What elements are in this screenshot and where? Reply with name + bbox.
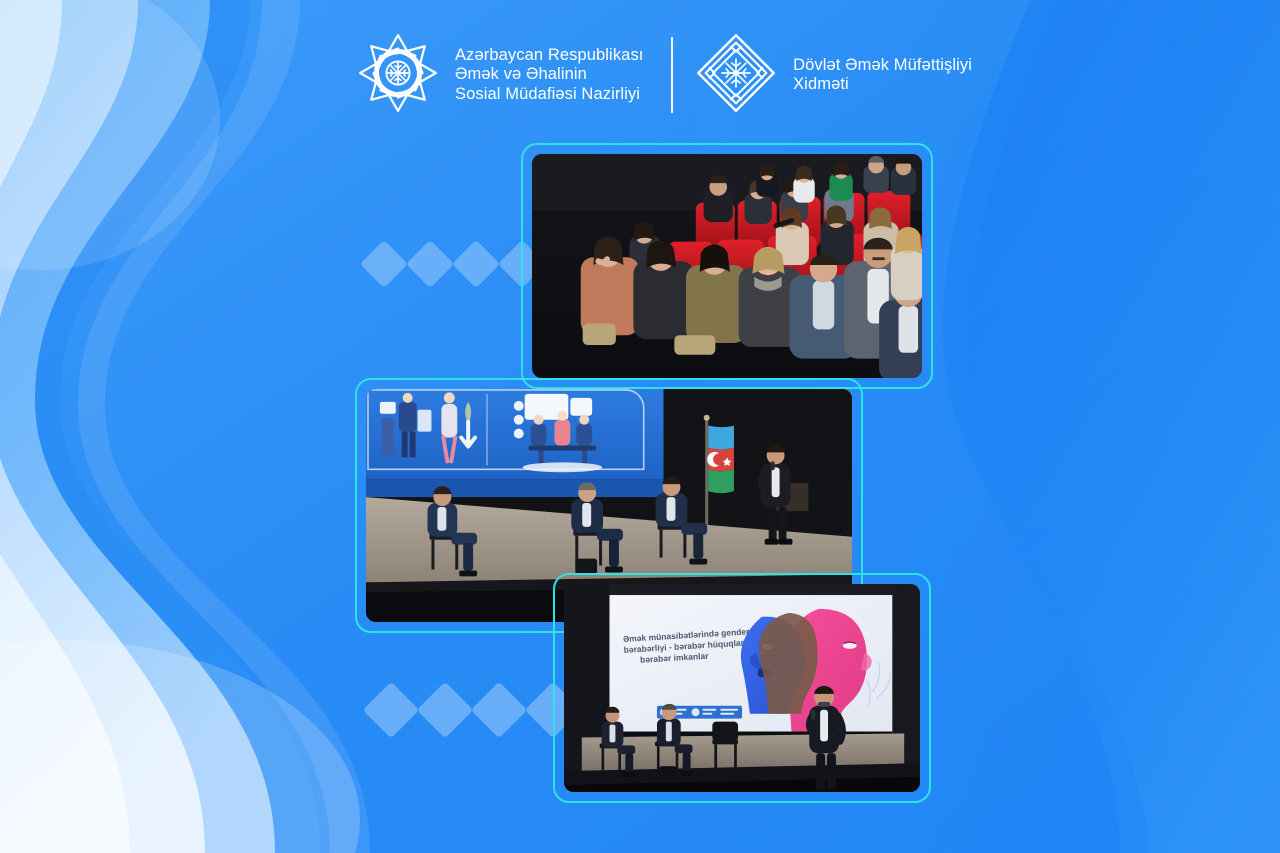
diamond-decoration-row-top bbox=[367, 247, 539, 281]
photo-audience bbox=[532, 154, 922, 378]
diamond-shape bbox=[471, 682, 528, 739]
diamond-snowflake-icon bbox=[695, 32, 777, 119]
brand-divider bbox=[671, 37, 673, 113]
photo-card-audience[interactable] bbox=[521, 143, 933, 389]
service-brand: Dövlət Əmək Müfəttişliyi Xidməti bbox=[695, 32, 972, 119]
photo-gender-presentation: Əmək münasibətlərində gender bərabərliyi… bbox=[564, 584, 920, 792]
diamond-decoration-row-bottom bbox=[371, 690, 573, 730]
photo-card-gender-slide[interactable]: Əmək münasibətlərində gender bərabərliyi… bbox=[553, 573, 931, 803]
service-name-text: Dövlət Əmək Müfəttişliyi Xidməti bbox=[793, 56, 972, 95]
diamond-shape bbox=[417, 682, 474, 739]
diamond-shape bbox=[452, 240, 500, 288]
ministry-brand: Azərbaycan Respublikası Əmək və Əhalinin… bbox=[355, 30, 643, 121]
diamond-shape bbox=[363, 682, 420, 739]
diamond-shape bbox=[360, 240, 408, 288]
poster-canvas: Azərbaycan Respublikası Əmək və Əhalinin… bbox=[0, 0, 1280, 853]
diamond-shape bbox=[406, 240, 454, 288]
header-branding: Azərbaycan Respublikası Əmək və Əhalinin… bbox=[355, 28, 972, 122]
ministry-name-text: Azərbaycan Respublikası Əmək və Əhalinin… bbox=[455, 46, 643, 105]
eight-point-star-snowflake-icon bbox=[355, 30, 441, 121]
